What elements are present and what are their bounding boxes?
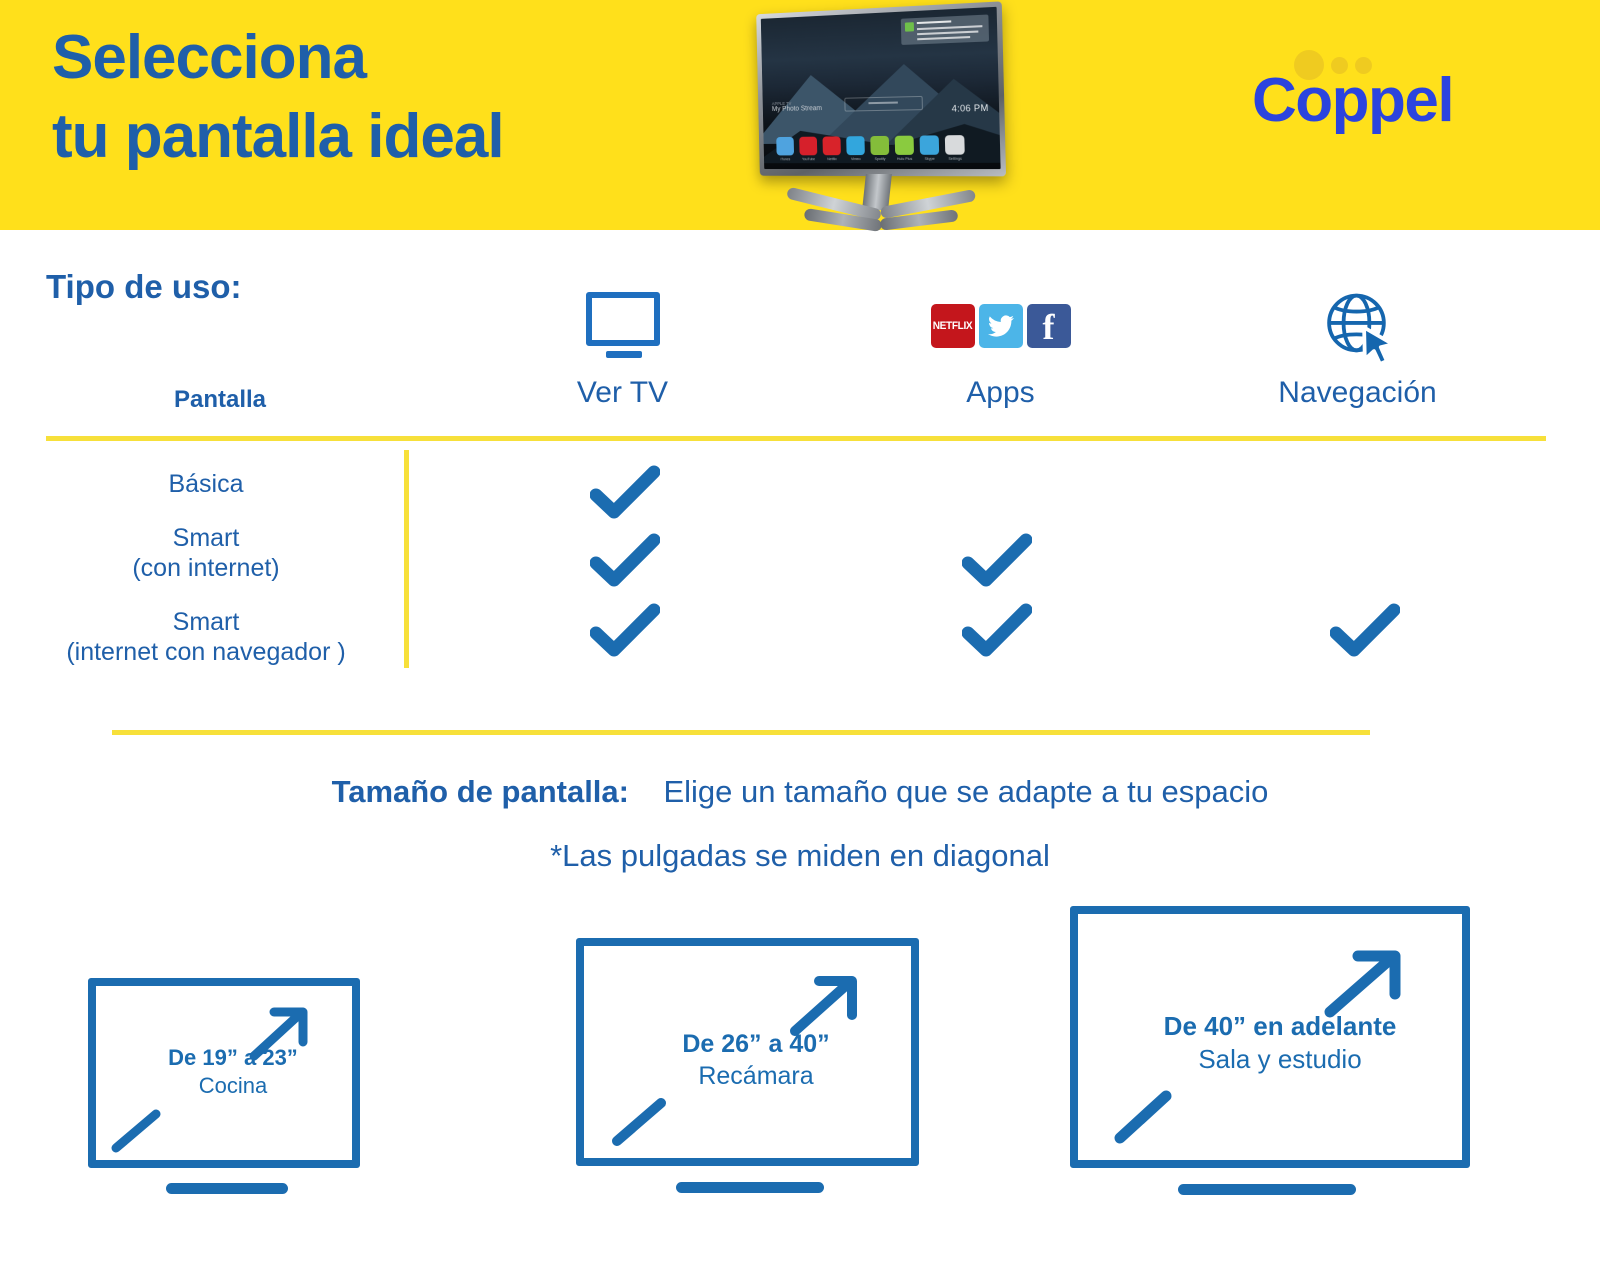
column-label: Navegación [1205,376,1510,410]
tv-app-item: iTunes [776,137,794,161]
tv-stand-bar [166,1183,288,1194]
netflix-icon: NETFLIX [931,304,975,348]
diagonal-tick-icon [1112,1088,1174,1146]
column-label: Pantalla [60,386,380,414]
tv-app-item: Vimeo [846,136,865,161]
tv-size-box-small: De 19” a 23” Cocina [88,978,378,1208]
tv-size-box-large: De 40” en adelante Sala y estudio [1070,906,1490,1206]
size-heading-bold: Tamaño de pantalla: [332,774,629,809]
table-row-label-smart-nav: Smart (internet con navegador ) [16,608,396,667]
column-label: Apps [848,376,1153,410]
tv-stand-bar [676,1182,824,1193]
column-header-apps: NETFLIX f Apps [848,288,1153,410]
table-row-label-basica: Básica [16,470,396,500]
tv-search-bar [844,96,923,112]
check-navegacion-smart-nav [1330,600,1400,660]
tv-size-room: Cocina [88,1072,378,1100]
table-column-divider [404,450,409,668]
twitter-icon [979,304,1023,348]
tv-size-room: Sala y estudio [1070,1043,1490,1076]
tv-size-room: Recámara [576,1060,936,1092]
diagonal-tick-icon [110,1108,162,1154]
tv-size-box-medium: De 26” a 40” Recámara [576,938,936,1206]
tv-stand-bar [1178,1184,1356,1195]
check-vertv-smart-nav [590,600,660,660]
size-note: *Las pulgadas se miden en diagonal [0,838,1600,874]
section-divider-rule [112,730,1370,735]
tv-bezel: APPLE TV My Photo Stream 4:06 PM iTunes … [756,1,1006,176]
facebook-icon: f [1027,304,1071,348]
tv-size-range: De 40” en adelante [1070,1010,1490,1043]
tv-app-item: Skype [920,135,940,161]
monitor-icon [470,288,775,364]
tv-app-item: Hulu Plus [895,136,914,161]
column-label: Ver TV [470,376,775,410]
tv-photostream-label: APPLE TV My Photo Stream [772,100,822,115]
diagonal-arrow-icon [788,974,860,1038]
tv-app-item: Spotify [870,136,889,161]
column-header-pantalla: Pantalla [60,386,380,414]
tv-app-item: YouTube [799,137,817,162]
tv-size-range: De 26” a 40” [576,1028,936,1060]
globe-cursor-icon [1205,288,1510,364]
tv-size-caption: De 40” en adelante Sala y estudio [1070,1010,1490,1077]
column-header-ver-tv: Ver TV [470,288,775,410]
check-vertv-smart [590,530,660,590]
tv-size-range: De 19” a 23” [88,1044,378,1072]
check-apps-smart-nav [962,600,1032,660]
size-heading-rest: Elige un tamaño que se adapte a tu espac… [663,774,1268,809]
tv-size-caption: De 19” a 23” Cocina [88,1044,378,1100]
table-row-label-smart: Smart (con internet) [16,524,396,583]
page-title: Selecciona tu pantalla ideal [52,18,504,177]
tv-app-row: iTunes YouTube Netflix Vimeo Spotify Hul… [776,135,965,161]
infographic-page: Selecciona tu pantalla ideal APPLE TV My… [0,0,1600,1280]
smart-tv-photo: APPLE TV My Photo Stream 4:06 PM iTunes … [750,2,1006,246]
check-apps-smart [962,530,1032,590]
tv-app-item: Netflix [822,136,841,161]
diagonal-tick-icon [610,1096,668,1148]
tv-size-caption: De 26” a 40” Recámara [576,1028,936,1092]
diagonal-arrow-icon [248,1006,310,1062]
tv-screen: APPLE TV My Photo Stream 4:06 PM iTunes … [761,7,1001,169]
tv-clock: 4:06 PM [952,103,989,114]
tv-notification [901,14,989,44]
table-top-rule [46,436,1546,441]
usage-section-label: Tipo de uso: [46,268,242,306]
tv-photostream-title: My Photo Stream [772,105,822,113]
coppel-wordmark: Coppel [1252,70,1453,132]
column-header-navegacion: Navegación [1205,288,1510,410]
diagonal-arrow-icon [1322,948,1404,1020]
tv-stand [786,174,976,242]
app-logos-icon: NETFLIX f [848,288,1153,364]
tv-app-item: Settings [945,135,965,161]
coppel-logo: Coppel [1252,48,1472,168]
check-vertv-basica [590,462,660,522]
header-banner: Selecciona tu pantalla ideal APPLE TV My… [0,0,1600,230]
size-heading: Tamaño de pantalla: Elige un tamaño que … [0,774,1600,810]
